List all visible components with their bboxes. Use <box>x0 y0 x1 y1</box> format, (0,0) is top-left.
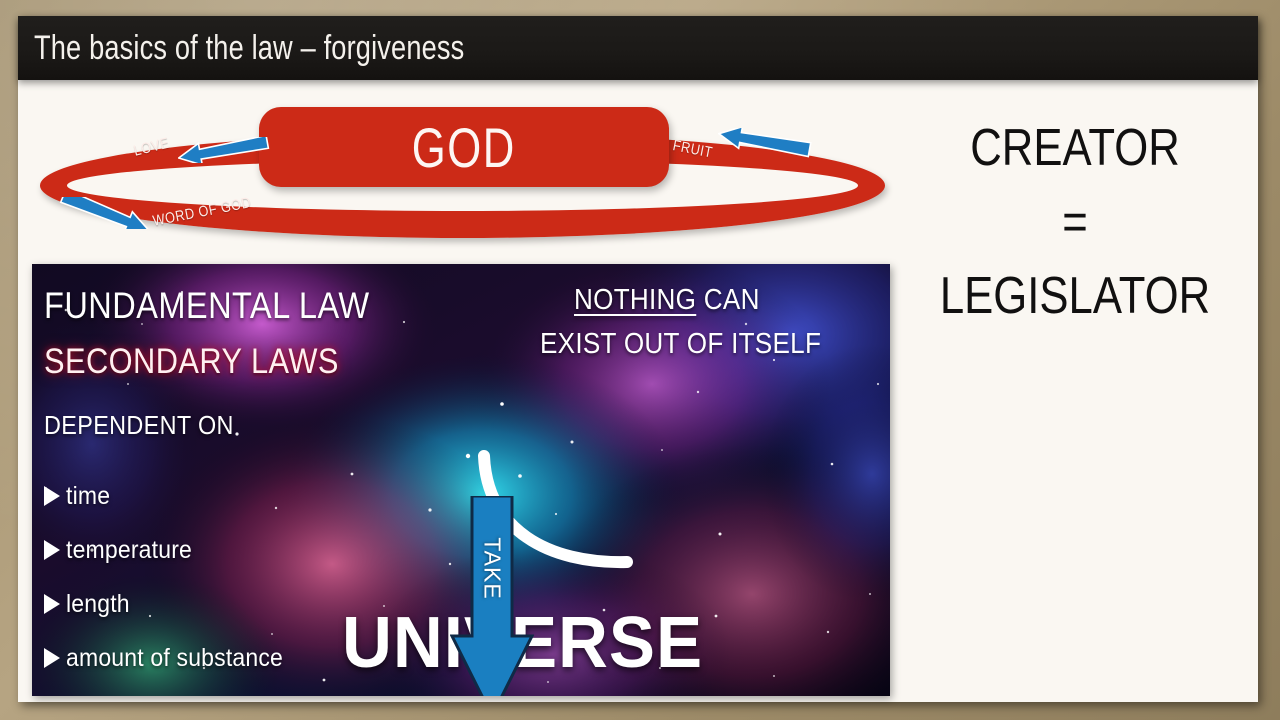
creator-line: CREATOR <box>928 112 1222 186</box>
triangle-bullet-icon <box>44 486 60 506</box>
take-arrow-label: TAKE <box>420 527 565 611</box>
list-item: amount of substance <box>44 631 302 685</box>
arrow-left-love-icon <box>178 137 270 163</box>
legislator-line: = LEGISLATOR <box>928 186 1222 334</box>
list-item: time <box>44 469 302 523</box>
secondary-laws-heading: SECONDARY LAWS <box>44 342 339 382</box>
god-box: GOD <box>259 107 669 187</box>
slide-title-bar: The basics of the law – forgiveness <box>18 16 1258 80</box>
triangle-bullet-icon <box>44 648 60 668</box>
god-ring-diagram: GOD LOVE FRUIT WORD OF GOD <box>18 95 898 260</box>
god-label: GOD <box>412 115 516 180</box>
dependency-label: temperature <box>66 536 192 565</box>
list-item: temperature <box>44 523 302 577</box>
page-title: The basics of the law – forgiveness <box>18 29 464 68</box>
slide-frame: The basics of the law – forgiveness GOD … <box>0 0 1280 720</box>
fundamental-law-heading: FUNDAMENTAL LAW <box>44 285 370 327</box>
dependency-label: length <box>66 590 130 619</box>
statement-emphasis: NOTHING <box>574 284 696 316</box>
triangle-bullet-icon <box>44 540 60 560</box>
arrow-right-word-of-god-icon <box>58 197 154 229</box>
dependent-on-label: DEPENDENT ON <box>44 410 234 441</box>
statement-line-1: NOTHING CAN <box>574 284 760 317</box>
dependency-label: time <box>66 482 110 511</box>
list-item: length <box>44 577 302 631</box>
statement-rest: CAN <box>696 284 759 316</box>
statement-line-2: EXIST OUT OF ITSELF <box>540 328 821 361</box>
arrow-left-fruit-icon <box>718 128 814 158</box>
dependency-label: amount of substance <box>66 644 283 673</box>
triangle-bullet-icon <box>44 594 60 614</box>
creator-legislator-text: CREATOR = LEGISLATOR <box>900 112 1250 333</box>
universe-image-panel: FUNDAMENTAL LAW SECONDARY LAWS DEPENDENT… <box>32 264 890 696</box>
dependency-list: time temperature length amount of substa… <box>44 469 302 685</box>
